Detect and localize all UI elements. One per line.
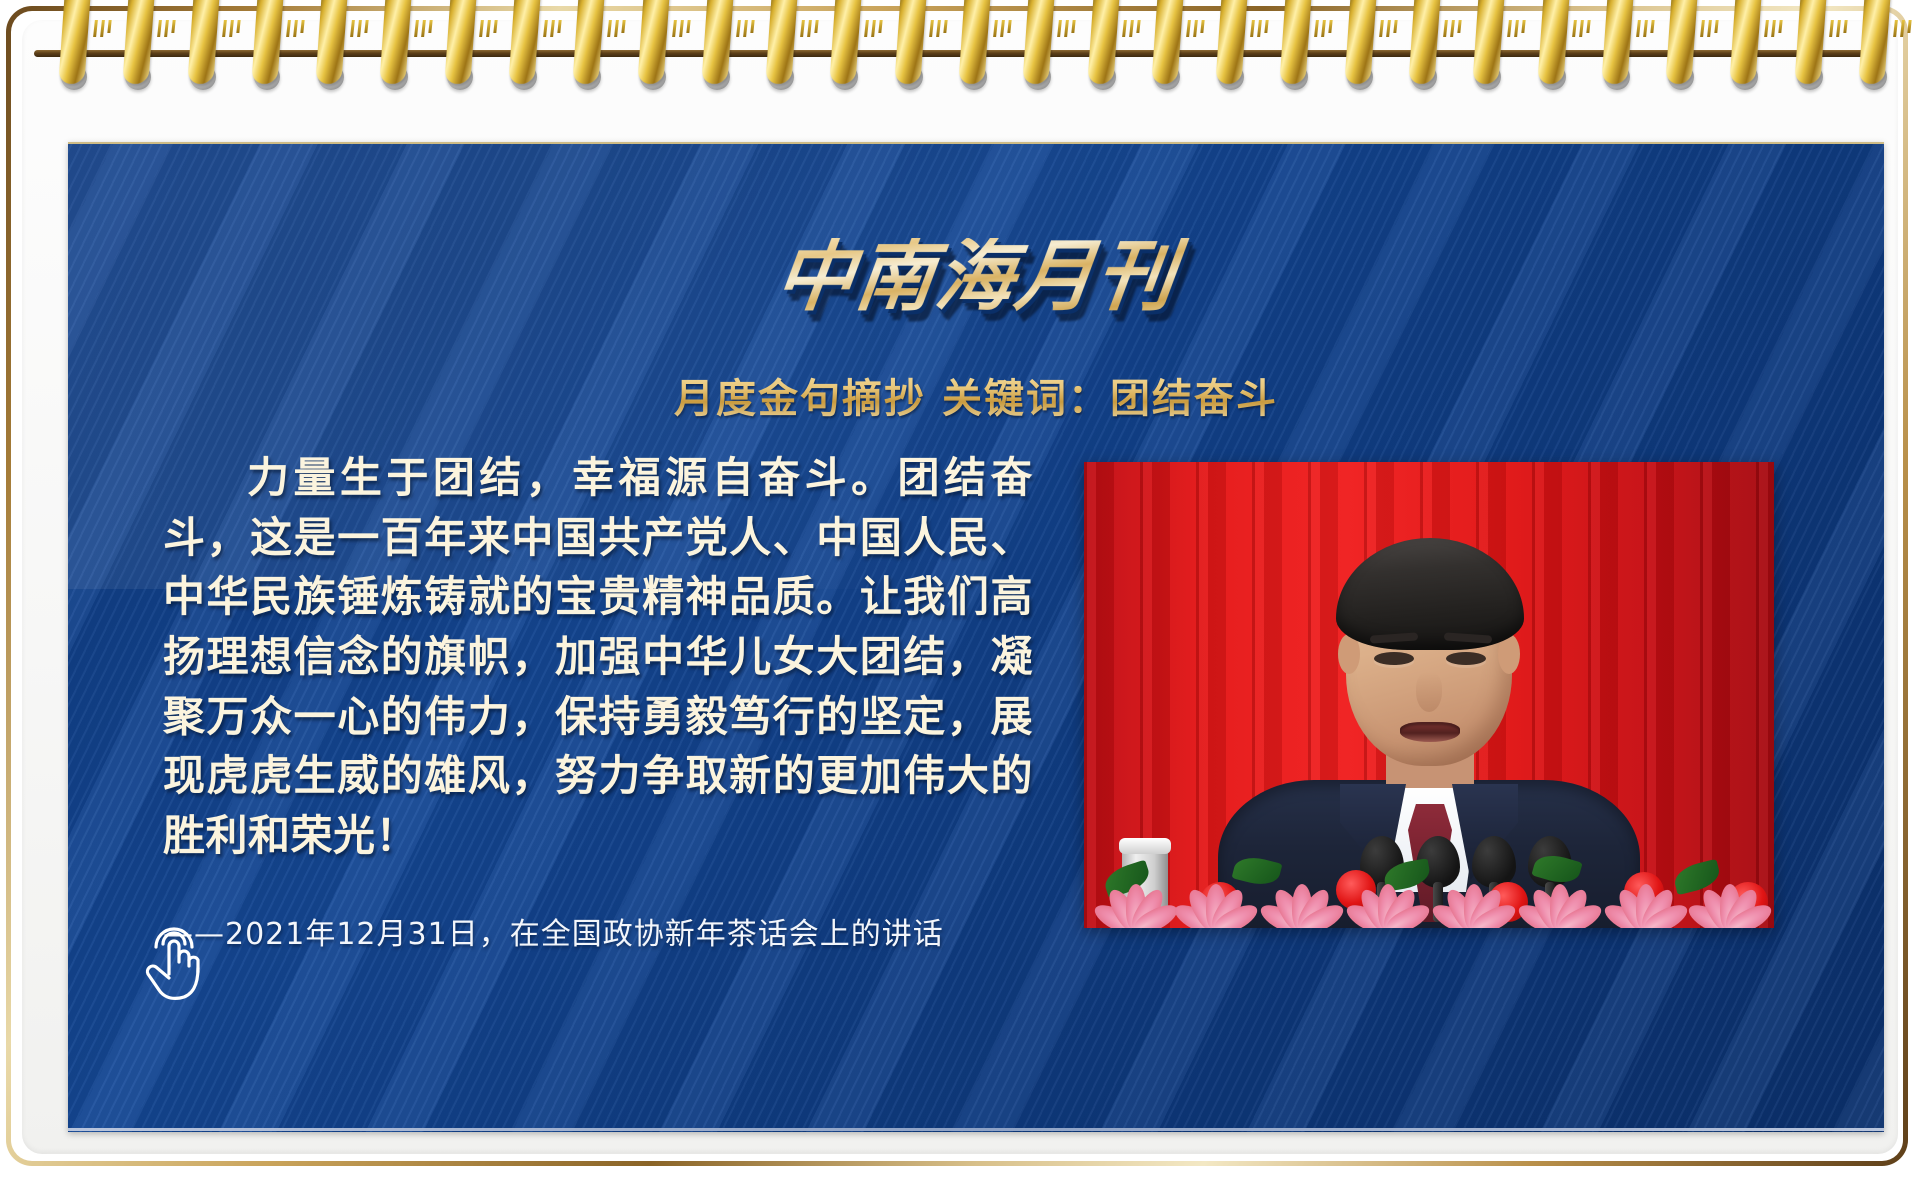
- paper-sheet: 中南海月刊 月度金句摘抄 关键词：团结奋斗 力量生于团结，幸福源自奋斗。团结奋斗…: [22, 20, 1898, 1154]
- subtitle-container: 月度金句摘抄 关键词：团结奋斗: [68, 366, 1884, 424]
- panel-bottom-edge: [68, 1128, 1884, 1131]
- page-title: 中南海月刊: [761, 238, 1191, 316]
- speaker-photo: [1084, 462, 1774, 928]
- content-panel: 中南海月刊 月度金句摘抄 关键词：团结奋斗 力量生于团结，幸福源自奋斗。团结奋斗…: [68, 142, 1884, 1132]
- eye-left: [1374, 652, 1414, 665]
- tap-hand-icon[interactable]: [138, 920, 212, 1004]
- page-subtitle: 月度金句摘抄 关键词：团结奋斗: [674, 366, 1278, 424]
- title-container: 中南海月刊: [68, 238, 1884, 316]
- quote-body: 力量生于团结，幸福源自奋斗。团结奋斗，这是一百年来中国共产党人、中国人民、中华民…: [163, 448, 1033, 865]
- mouth: [1400, 722, 1460, 742]
- calendar-page: 中南海月刊 月度金句摘抄 关键词：团结奋斗 力量生于团结，幸福源自奋斗。团结奋斗…: [0, 0, 1920, 1180]
- quote-source: ——2021年12月31日，在全国政协新年茶话会上的讲话: [163, 909, 1033, 953]
- flower-arrangement: [1084, 834, 1774, 928]
- quote-block: 力量生于团结，幸福源自奋斗。团结奋斗，这是一百年来中国共产党人、中国人民、中华民…: [163, 448, 1033, 953]
- eye-right: [1446, 652, 1486, 665]
- nose: [1416, 672, 1442, 712]
- hair: [1336, 538, 1524, 650]
- binding-bar: [34, 50, 1886, 57]
